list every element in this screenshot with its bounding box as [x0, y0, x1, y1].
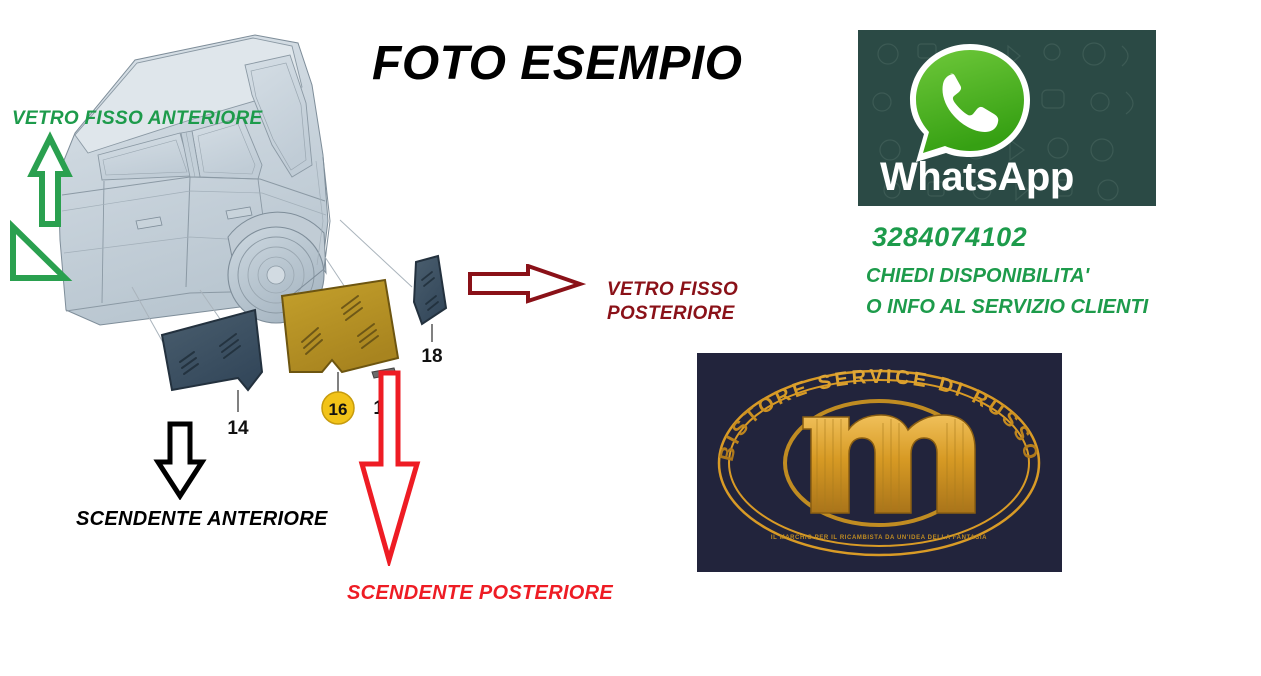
- green-triangle-icon: [13, 227, 65, 278]
- contact-availability-text: CHIEDI DISPONIBILITA': [866, 265, 1089, 288]
- maroon-right-arrow-icon: [466, 264, 586, 304]
- glass-part-18: 18: [414, 256, 446, 367]
- example-photo-diagram: 14 16 17: [0, 0, 1261, 676]
- whatsapp-phone-icon: [904, 38, 1036, 170]
- whatsapp-banner[interactable]: WhatsApp: [858, 30, 1156, 206]
- shop-logo-ring-text: MRICAMBISTORE SERVICE DI RUSSO MARCO: [697, 353, 1042, 465]
- label-rear-fixed-glass: VETRO FISSO POSTERIORE: [607, 278, 738, 326]
- contact-phone-number[interactable]: 3284074102: [872, 222, 1027, 253]
- part-label-16: 16: [329, 400, 348, 419]
- shop-logo-graphic: MRICAMBISTORE SERVICE DI RUSSO MARCO: [697, 353, 1062, 572]
- label-rear-fixed-glass-line1: VETRO FISSO: [607, 278, 738, 302]
- whatsapp-wordmark: WhatsApp: [880, 155, 1074, 200]
- exploded-glass-parts: 14 16 17: [150, 250, 480, 440]
- label-rear-drop-glass: SCENDENTE POSTERIORE: [347, 582, 613, 605]
- black-down-arrow-icon: [150, 420, 210, 500]
- red-down-arrow-icon: [355, 370, 425, 566]
- shop-logo: MRICAMBISTORE SERVICE DI RUSSO MARCO: [697, 353, 1062, 572]
- part-label-18: 18: [421, 346, 442, 367]
- page-title: FOTO ESEMPIO: [372, 36, 743, 91]
- label-front-fixed-glass: VETRO FISSO ANTERIORE: [12, 108, 263, 130]
- part-label-14: 14: [227, 418, 249, 439]
- label-rear-fixed-glass-line2: POSTERIORE: [607, 302, 738, 326]
- shop-logo-tagline: IL MARCHIO PER IL RICAMBISTA DA UN'IDEA …: [771, 535, 987, 541]
- green-pointer-shapes: [2, 130, 82, 288]
- shop-logo-monogram: [803, 415, 975, 513]
- label-front-drop-glass: SCENDENTE ANTERIORE: [76, 508, 328, 531]
- contact-service-text: O INFO AL SERVIZIO CLIENTI: [866, 296, 1148, 319]
- green-up-arrow-icon: [32, 138, 68, 224]
